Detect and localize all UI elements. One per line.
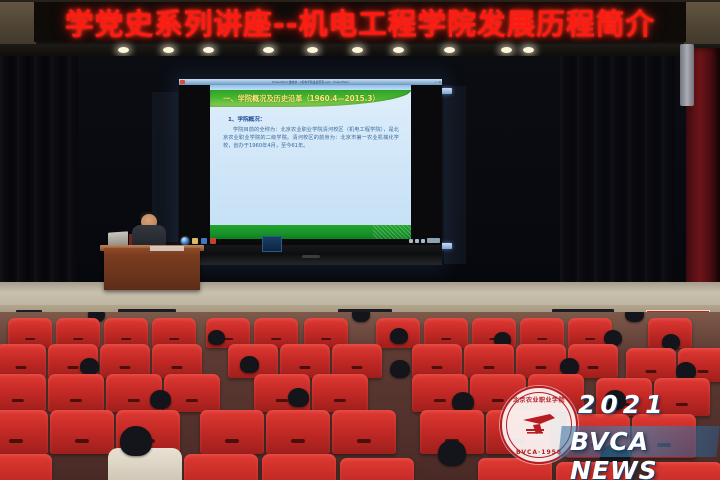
- audience-head: [150, 390, 171, 409]
- audience-head: [352, 312, 370, 322]
- stage-light-icon: [307, 47, 318, 53]
- presenter-documents: [150, 246, 184, 251]
- audience-head: [560, 358, 579, 375]
- audience-seat: [486, 410, 550, 454]
- powerpoint-icon: [180, 80, 185, 84]
- audience-seat: [0, 410, 48, 454]
- stage-curtain-right: [560, 56, 675, 291]
- audience-head: [390, 328, 408, 344]
- windows-orb-icon[interactable]: [181, 237, 189, 245]
- network-icon[interactable]: [409, 239, 413, 243]
- media-player-icon[interactable]: [201, 238, 207, 244]
- stage-light-icon: [118, 47, 129, 53]
- audience-head: [604, 390, 626, 410]
- slide-title-text: 一、学院概况及历史沿革（1960.4—2015.3）: [223, 93, 379, 104]
- windows-taskbar[interactable]: [179, 236, 442, 245]
- audience-seat: [332, 410, 396, 454]
- audience-seat: [200, 410, 264, 454]
- slide-body-text: 学院目前的全称为：北京农业职业学院清河校区（机电工程学院），是北京农业职业学院的…: [223, 126, 399, 150]
- stage-monitor: [262, 236, 282, 252]
- presenter-table: [104, 248, 200, 290]
- wall-panel-left: [444, 86, 466, 264]
- audience-head: [80, 358, 99, 375]
- banner-right-panel: [684, 2, 720, 44]
- audience-seat: [556, 462, 630, 480]
- audience-head: [438, 440, 466, 466]
- slide-letterbox-left: [179, 85, 210, 239]
- audience-seat: [280, 344, 330, 378]
- volume-icon[interactable]: [415, 239, 419, 243]
- slide-title-band: 一、学院概况及历史沿革（1960.4—2015.3）: [210, 90, 411, 107]
- audience-seat: [632, 414, 696, 458]
- auditorium-lecture-screenshot: 学党史系列讲座--机电工程学院发展历程简介 PowerPoint 放映中 - […: [0, 0, 720, 480]
- audience-seat: [648, 462, 720, 480]
- audience-seat: [152, 344, 202, 378]
- powerpoint-icon[interactable]: [210, 238, 216, 244]
- projection-screen[interactable]: PowerPoint 放映中 - [机电学院发展历程.ppt] - PowerP…: [179, 79, 442, 265]
- stage-light-icon: [501, 47, 512, 53]
- audience-seat: [340, 458, 414, 480]
- audience-seat: [528, 374, 584, 412]
- window-controls[interactable]: ▫ ▫ ✕: [435, 80, 441, 84]
- audience-seat: [50, 410, 114, 454]
- banner-board: 学党史系列讲座--机电工程学院发展历程简介: [34, 2, 686, 42]
- audience-seat: [164, 374, 220, 412]
- banner-left-panel: [0, 2, 36, 44]
- powerpoint-title-text: PowerPoint 放映中 - [机电学院发展历程.ppt] - PowerP…: [272, 80, 349, 84]
- slide-letterbox-right: [411, 85, 442, 239]
- audience-seat: [626, 348, 676, 382]
- stage-light-icon: [263, 47, 274, 53]
- stage-curtain-left: [0, 56, 78, 291]
- audience-head: [288, 388, 309, 407]
- system-tray[interactable]: [409, 238, 440, 243]
- presentation-slide[interactable]: 一、学院概况及历史沿革（1960.4—2015.3） 1、学院概况： 学院目前的…: [210, 85, 411, 239]
- audience-seat: [470, 374, 526, 412]
- input-method-icon[interactable]: [421, 239, 425, 243]
- stage-light-icon: [203, 47, 214, 53]
- audience-seat: [0, 454, 52, 480]
- clock-icon[interactable]: [427, 238, 440, 243]
- banner-title-text: 学党史系列讲座--机电工程学院发展历程简介: [65, 2, 655, 42]
- audience-head: [120, 426, 152, 456]
- stage-light-icon: [393, 47, 404, 53]
- audience-head: [452, 392, 474, 412]
- audience-head: [390, 360, 410, 378]
- explorer-icon[interactable]: [192, 238, 198, 244]
- audience-head: [625, 312, 644, 322]
- audience-head: [240, 356, 259, 373]
- audience-seat: [0, 344, 46, 378]
- audience-head: [208, 330, 225, 345]
- audience-seat: [332, 344, 382, 378]
- stage-light-icon: [352, 47, 363, 53]
- audience-seat: [100, 344, 150, 378]
- audience-seat: [478, 458, 552, 480]
- stage-light-icon: [523, 47, 534, 53]
- slide-stage: 一、学院概况及历史沿革（1960.4—2015.3） 1、学院概况： 学院目前的…: [179, 85, 442, 239]
- audience-seat: [464, 344, 514, 378]
- audience-seat: [312, 374, 368, 412]
- bezel-notch: [302, 255, 320, 258]
- stage-light-icon: [163, 47, 174, 53]
- screen-bezel: [179, 245, 442, 265]
- audience-seat: [516, 344, 566, 378]
- audience-seat: [412, 344, 462, 378]
- audience-seat: [184, 454, 258, 480]
- audience-seat: [266, 410, 330, 454]
- audience-seat: [0, 374, 46, 412]
- audience-seat: [262, 454, 336, 480]
- stage-light-icon: [444, 47, 455, 53]
- stage-banner: 学党史系列讲座--机电工程学院发展历程简介: [0, 2, 720, 44]
- audience-seating: [0, 312, 720, 480]
- audience-seat: [654, 378, 710, 416]
- slide-subheading: 1、学院概况：: [228, 115, 265, 123]
- audience-seat: [48, 374, 104, 412]
- curtain-rod: [680, 44, 694, 106]
